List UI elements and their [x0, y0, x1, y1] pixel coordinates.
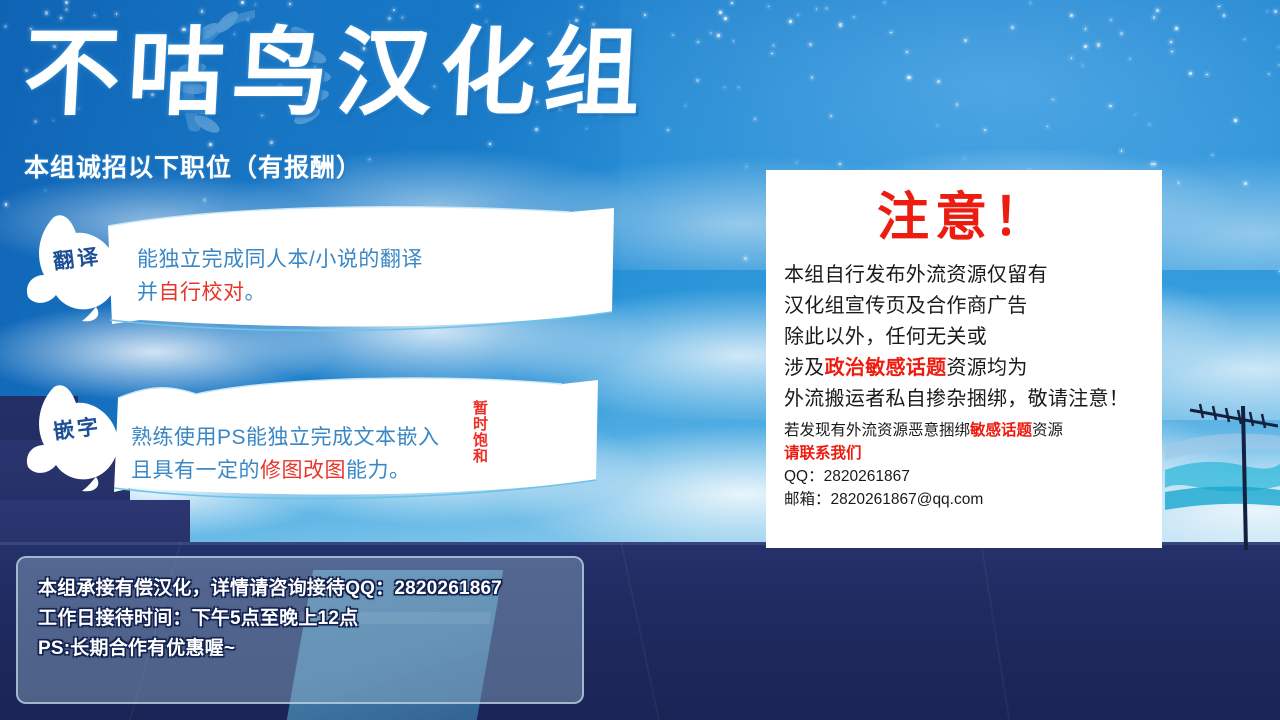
recruit-line-1: 熟练使用PS能独立完成文本嵌入	[131, 426, 440, 449]
contact-email[interactable]: 邮箱：2820261867@qq.com	[784, 488, 1144, 511]
recruit-row-typesetting: 嵌字 熟练使用PS能独立完成文本嵌入 且具有一定的修图改图能力。 暂时饱和	[0, 365, 640, 515]
notice-contact-block: 若发现有外流资源恶意捆绑敏感话题资源 请联系我们 QQ：2820261867 邮…	[784, 419, 1144, 511]
notice-highlight-politics: 政治敏感话题	[825, 357, 947, 379]
notice-title: 注意！	[784, 186, 1144, 250]
rooftop-seam-3	[980, 542, 1010, 720]
notice-panel: 注意！ 本组自行发布外流资源仅留有 汉化组宣传页及合作商广告 除此以外，任何无关…	[766, 170, 1162, 548]
page-title: 不咕鸟汉化组	[21, 14, 767, 134]
recruit-desc-translation: 能独立完成同人本/小说的翻译 并自行校对。	[137, 243, 423, 309]
notice-line: 除此以外，任何无关或	[784, 322, 1144, 353]
poster-canvas: 不咕鸟汉化组 本组诚招以下职位（有报酬） 翻译 能独立完成同人本/小说的翻译 并…	[0, 0, 1280, 720]
contact-us-label: 请联系我们	[784, 442, 1144, 465]
recruit-subtitle: 本组诚招以下职位（有报酬）	[24, 148, 362, 184]
recruit-line-2-suffix: 。	[245, 281, 267, 304]
recruit-desc-typesetting: 熟练使用PS能独立完成文本嵌入 且具有一定的修图改图能力。	[131, 421, 440, 487]
status-badge-typesetting: 暂时饱和	[471, 400, 488, 464]
notice-line: 汉化组宣传页及合作商广告	[784, 291, 1144, 322]
notice-line: 本组自行发布外流资源仅留有	[784, 260, 1144, 291]
recruit-row-translation: 翻译 能独立完成同人本/小说的翻译 并自行校对。	[0, 195, 640, 345]
service-line-commission: 本组承接有偿汉化，详情请咨询接待QQ：2820261867	[38, 574, 582, 604]
recruit-line-2-highlight: 自行校对	[159, 281, 245, 304]
notice-highlight-sensitive: 敏感话题	[970, 422, 1032, 439]
recruit-line-2-prefix: 且具有一定的	[131, 459, 260, 482]
recruit-line-2-prefix: 并	[137, 281, 159, 304]
service-line-ps: PS:长期合作有优惠喔~	[38, 634, 582, 664]
notice-small-line: 若发现有外流资源恶意捆绑敏感话题资源	[784, 419, 1144, 442]
notice-line: 外流搬运者私自掺杂捆绑，敬请注意！	[784, 384, 1144, 415]
tv-antenna-icon	[1186, 400, 1278, 550]
recruit-line-2-highlight: 修图改图	[260, 459, 346, 482]
rooftop-seam-2	[620, 542, 660, 720]
contact-qq[interactable]: QQ：2820261867	[784, 465, 1144, 488]
service-line-hours: 工作日接待时间：下午5点至晚上12点	[38, 604, 582, 634]
notice-line-highlighted: 涉及政治敏感话题资源均为	[784, 353, 1144, 384]
notice-body: 本组自行发布外流资源仅留有 汉化组宣传页及合作商广告 除此以外，任何无关或 涉及…	[784, 260, 1144, 415]
service-info-panel: 本组承接有偿汉化，详情请咨询接待QQ：2820261867 工作日接待时间：下午…	[16, 556, 584, 704]
recruit-line-2-suffix: 能力。	[346, 459, 411, 482]
recruit-line-1: 能独立完成同人本/小说的翻译	[137, 248, 423, 271]
